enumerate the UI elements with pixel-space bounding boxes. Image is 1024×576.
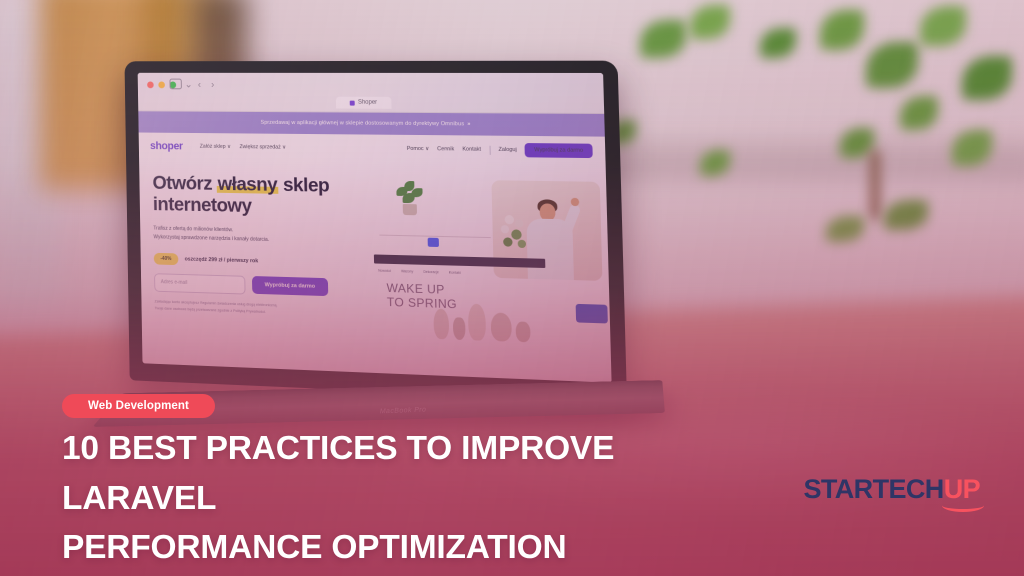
logo-text-startech: STARTECH	[803, 474, 943, 505]
startechup-logo[interactable]: STARTECH UP	[803, 474, 980, 505]
page-title: 10 BEST PRACTICES TO IMPROVE LARAVEL PER…	[62, 424, 762, 573]
logo-text-up: UP	[944, 474, 980, 505]
title-line-2: PERFORMANCE OPTIMIZATION	[62, 523, 762, 573]
category-badge[interactable]: Web Development	[62, 394, 215, 418]
text-overlay: Web Development 10 BEST PRACTICES TO IMP…	[0, 0, 1024, 576]
title-line-1: 10 BEST PRACTICES TO IMPROVE LARAVEL	[62, 424, 762, 523]
